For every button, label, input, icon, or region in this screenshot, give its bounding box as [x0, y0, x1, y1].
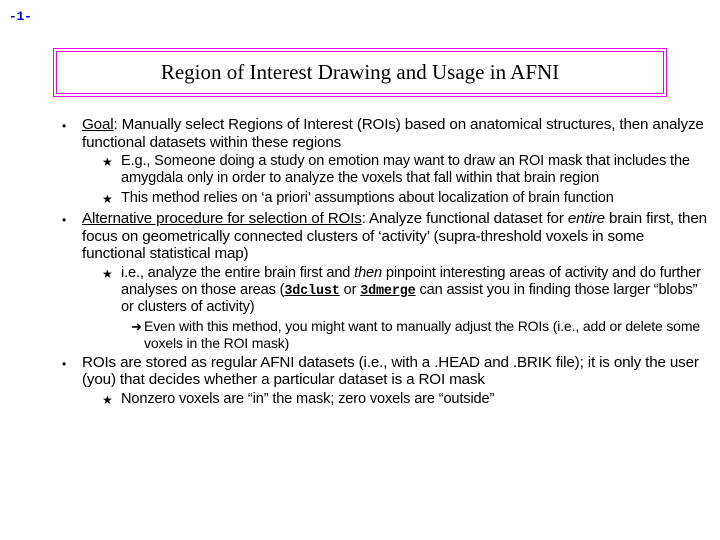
- bullet-star-icon: ★: [102, 153, 121, 170]
- slide-title-box: Region of Interest Drawing and Usage in …: [53, 48, 667, 97]
- bullet-star-icon: ★: [102, 190, 121, 207]
- bullet-alternative-procedure-text: Alternative procedure for selection of R…: [82, 210, 710, 263]
- bullet-nonzero-voxels-text: Nonzero voxels are “in” the mask; zero v…: [121, 391, 710, 408]
- bullet-analyze-entire-brain-text: i.e., analyze the entire brain first and…: [121, 265, 710, 316]
- bullet-roi-storage-text: ROIs are stored as regular AFNI datasets…: [82, 354, 710, 389]
- bullet-dot-icon: •: [62, 354, 82, 372]
- bullet-example-amygdala: ★E.g., Someone doing a study on emotion …: [102, 153, 710, 187]
- bullet-manual-adjust: ➜Even with this method, you might want t…: [131, 318, 710, 350]
- bullet-example-amygdala-text: E.g., Someone doing a study on emotion m…: [121, 153, 710, 187]
- bullet-arrow-icon: ➜: [131, 318, 144, 334]
- bullet-nonzero-voxels: ★Nonzero voxels are “in” the mask; zero …: [102, 391, 710, 408]
- page-title: Region of Interest Drawing and Usage in …: [161, 61, 559, 84]
- bullet-star-icon: ★: [102, 391, 121, 408]
- bullet-a-priori: ★This method relies on ‘a priori’ assump…: [102, 190, 710, 207]
- page-number: -1-: [9, 9, 32, 24]
- bullet-dot-icon: •: [62, 116, 82, 134]
- slide-body: •Goal: Manually select Regions of Intere…: [62, 116, 710, 408]
- bullet-a-priori-text: This method relies on ‘a priori’ assumpt…: [121, 190, 710, 207]
- bullet-dot-icon: •: [62, 210, 82, 228]
- bullet-goal-text: Goal: Manually select Regions of Interes…: [82, 116, 710, 151]
- bullet-alternative-procedure: •Alternative procedure for selection of …: [62, 210, 710, 263]
- bullet-roi-storage: •ROIs are stored as regular AFNI dataset…: [62, 354, 710, 389]
- slide-title-box-inner: Region of Interest Drawing and Usage in …: [56, 51, 664, 94]
- bullet-star-icon: ★: [102, 265, 121, 282]
- bullet-manual-adjust-text: Even with this method, you might want to…: [144, 318, 710, 350]
- bullet-analyze-entire-brain: ★i.e., analyze the entire brain first an…: [102, 265, 710, 316]
- bullet-goal: •Goal: Manually select Regions of Intere…: [62, 116, 710, 151]
